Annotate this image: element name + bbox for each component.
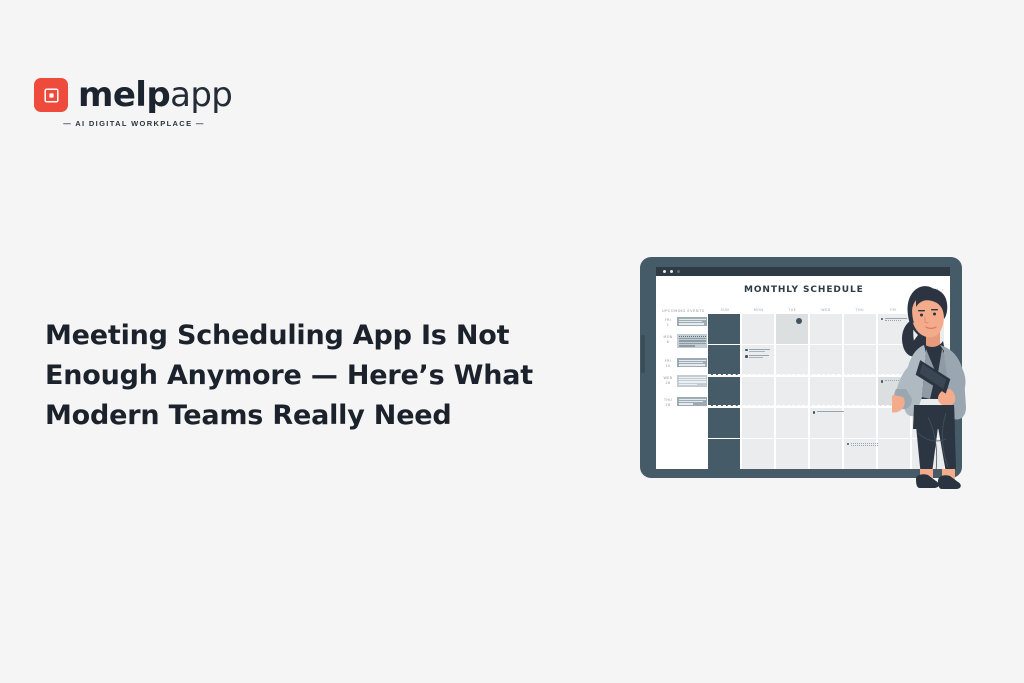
calendar-cell[interactable] xyxy=(742,314,774,344)
list-item[interactable]: WED 28 xyxy=(662,375,707,387)
event-date: MON 6 xyxy=(662,334,674,345)
event-text-lines xyxy=(749,349,771,353)
calendar-cell[interactable] xyxy=(810,314,842,344)
calendar-cell[interactable] xyxy=(844,439,876,469)
calendar-cell[interactable] xyxy=(708,439,740,469)
event-card xyxy=(677,317,707,326)
logo-word-primary: melp xyxy=(78,75,170,115)
list-item[interactable]: FRI 10 xyxy=(662,358,707,369)
logo-tagline: — AI DIGITAL WORKPLACE — xyxy=(36,119,232,128)
calendar-cell[interactable] xyxy=(776,377,808,407)
hero-illustration: MONTHLY SCHEDULE ‹ MONTH › UPCOMING EVEN… xyxy=(636,252,976,514)
calendar-cell[interactable] xyxy=(844,377,876,407)
event-card xyxy=(677,375,707,387)
calendar-cell[interactable] xyxy=(776,314,808,344)
calendar-cell[interactable] xyxy=(708,377,740,407)
event-dot-icon xyxy=(745,355,748,358)
event-dot-icon xyxy=(847,443,850,446)
page-title: Meeting Scheduling App Is Not Enough Any… xyxy=(45,316,625,436)
event-date: FRI 1 xyxy=(662,317,674,328)
person-illustration xyxy=(892,277,976,509)
weekday-header: SUN xyxy=(708,308,742,312)
calendar-cell[interactable] xyxy=(708,345,740,375)
event-card xyxy=(677,334,707,348)
window-titlebar xyxy=(656,267,950,276)
event-card xyxy=(677,358,707,367)
event-card xyxy=(677,397,707,406)
window-dot-icon[interactable] xyxy=(663,270,666,273)
event-dot-icon xyxy=(796,318,802,324)
weekday-header: THU xyxy=(843,308,877,312)
brand-logo[interactable]: melpapp — AI DIGITAL WORKPLACE — xyxy=(34,78,232,128)
list-item[interactable]: FRI 1 xyxy=(662,317,707,328)
calendar-cell[interactable] xyxy=(742,377,774,407)
calendar-cell[interactable] xyxy=(742,439,774,469)
calendar-cell[interactable] xyxy=(810,345,842,375)
calendar-cell[interactable] xyxy=(776,439,808,469)
event-dot-icon xyxy=(881,380,884,383)
calendar-cell[interactable] xyxy=(844,314,876,344)
event-dot-icon xyxy=(813,411,816,414)
logo-wordmark: melpapp xyxy=(78,78,232,112)
calendar-cell[interactable] xyxy=(742,408,774,438)
logo-row: melpapp xyxy=(34,78,232,112)
event-text-lines xyxy=(749,355,771,359)
calendar-cell[interactable] xyxy=(708,408,740,438)
calendar-title: MONTHLY SCHEDULE xyxy=(744,285,864,295)
calendar-cell[interactable] xyxy=(810,439,842,469)
calendar-cell[interactable] xyxy=(776,345,808,375)
window-dot-icon[interactable] xyxy=(677,270,680,273)
tablet-side-button[interactable] xyxy=(641,335,645,373)
list-item[interactable]: THU 28 xyxy=(662,397,707,408)
event-date: FRI 10 xyxy=(662,358,674,369)
calendar-cell[interactable] xyxy=(844,345,876,375)
calendar-cell[interactable] xyxy=(708,314,740,344)
event-date: THU 28 xyxy=(662,397,674,408)
calendar-cell[interactable] xyxy=(742,345,774,375)
calendar-cell[interactable] xyxy=(776,408,808,438)
weekday-header: TUE xyxy=(775,308,809,312)
calendar-cell[interactable] xyxy=(810,408,842,438)
event-dot-icon xyxy=(745,349,748,352)
event-date: WED 28 xyxy=(662,375,674,386)
logo-word-secondary: app xyxy=(170,75,232,115)
upcoming-events-label: UPCOMING EVENTS xyxy=(662,309,705,313)
calendar-cell[interactable] xyxy=(844,408,876,438)
list-item[interactable]: MON 6 xyxy=(662,334,707,348)
melp-square-icon xyxy=(34,78,68,112)
weekday-header: WED xyxy=(809,308,843,312)
window-dot-icon[interactable] xyxy=(670,270,673,273)
calendar-cell[interactable] xyxy=(810,377,842,407)
weekday-header: MON xyxy=(742,308,776,312)
event-dot-icon xyxy=(881,318,884,321)
